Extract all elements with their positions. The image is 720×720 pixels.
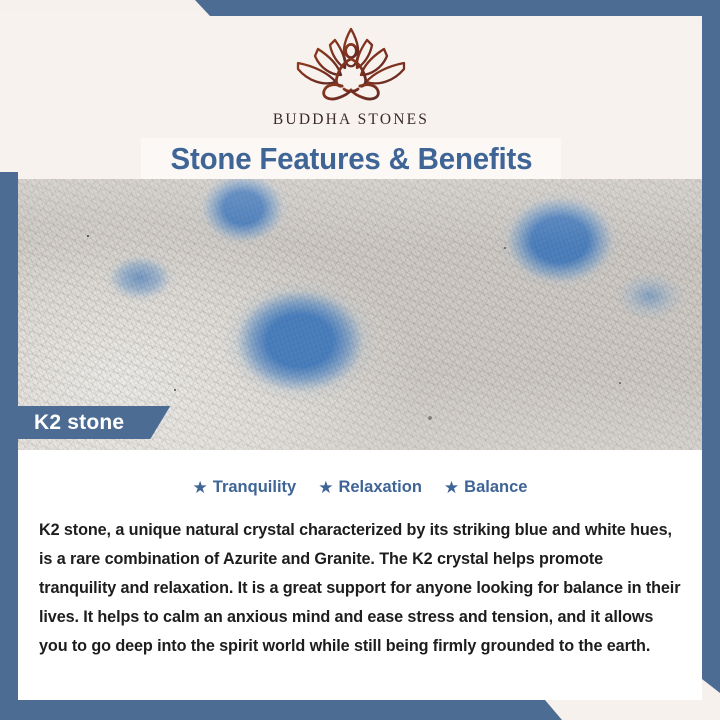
infographic-page: BUDDHA STONES Stone Features & Benefits … (0, 0, 720, 720)
stone-name-label: K2 stone (34, 411, 124, 435)
star-icon: ★ (193, 479, 208, 496)
brand-name: BUDDHA STONES (273, 111, 429, 129)
feature-label: Tranquility (213, 478, 296, 497)
header-section: BUDDHA STONES Stone Features & Benefits (0, 13, 702, 179)
feature-label: Relaxation (338, 478, 421, 497)
feature-item-tranquility: ★ Tranquility (193, 478, 297, 497)
frame-right-accent (702, 13, 720, 693)
title-banner: Stone Features & Benefits (141, 138, 561, 179)
frame-bottom-accent (0, 700, 575, 720)
content-section: ★ Tranquility ★ Relaxation ★ Balance K2 … (18, 450, 702, 700)
feature-label: Balance (464, 478, 527, 497)
feature-item-relaxation: ★ Relaxation (318, 478, 422, 497)
star-icon: ★ (444, 479, 459, 496)
frame-left-accent (0, 172, 18, 707)
stone-name-badge: K2 stone (18, 406, 170, 439)
page-title: Stone Features & Benefits (170, 141, 532, 177)
feature-item-balance: ★ Balance (444, 478, 528, 497)
brand-logo (271, 23, 431, 109)
star-icon: ★ (318, 479, 333, 496)
description-paragraph: K2 stone, a unique natural crystal chara… (32, 516, 688, 661)
lotus-meditation-icon (276, 23, 426, 109)
feature-list: ★ Tranquility ★ Relaxation ★ Balance (32, 478, 688, 497)
